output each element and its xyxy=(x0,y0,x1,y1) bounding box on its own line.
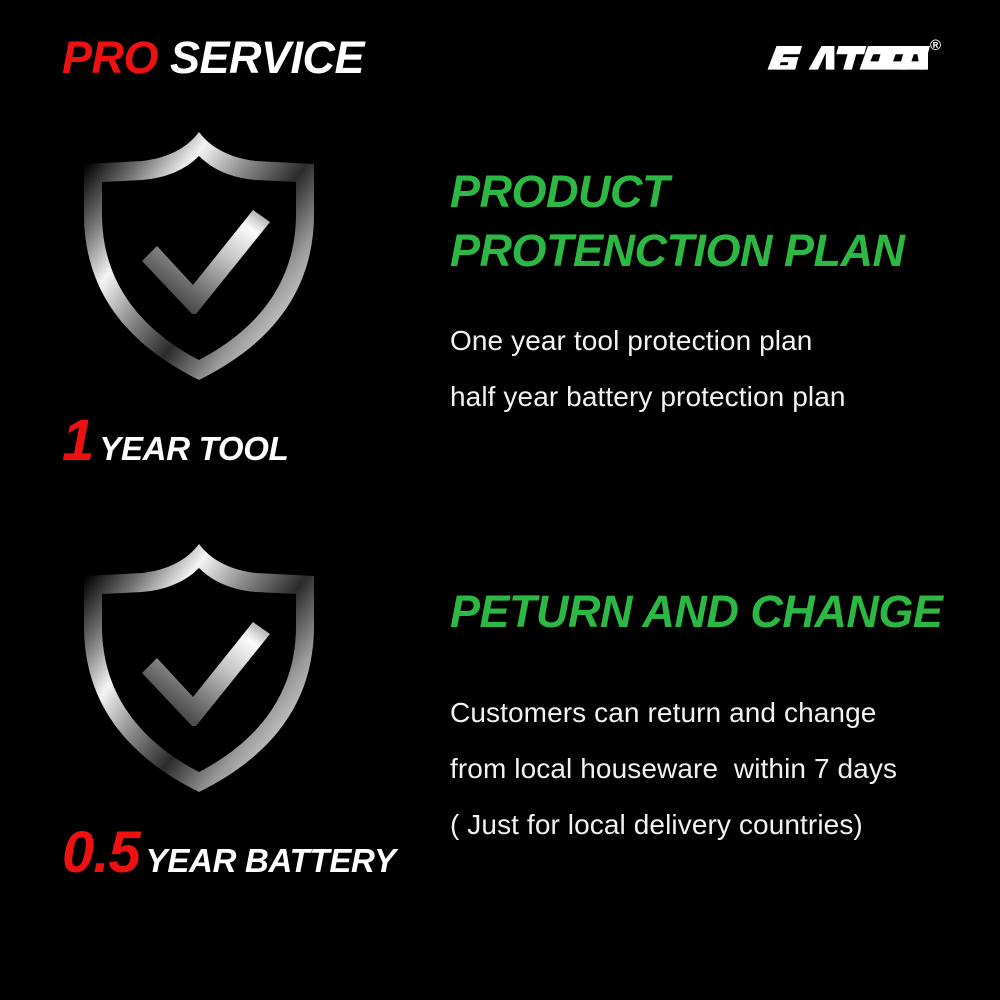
body-line: ( Just for local delivery countries) xyxy=(450,811,980,839)
shield-caption-battery: 0.5YEAR BATTERY xyxy=(52,824,382,882)
shield-check-icon-art xyxy=(64,530,334,802)
shield-caption-label: YEAR BATTERY xyxy=(146,842,396,879)
section-product-protection: 1YEAR TOOL PRODUCT PROTENCTION PLAN One … xyxy=(0,118,1000,508)
shield-block-tool: 1YEAR TOOL xyxy=(52,118,382,470)
pro-service-banner: PRO SERVICE xyxy=(0,0,1000,1000)
section-body-product: One year tool protection plan half year … xyxy=(450,327,980,411)
shield-block-battery: 0.5YEAR BATTERY xyxy=(52,530,382,882)
page-title-accent: PRO xyxy=(62,32,158,83)
shield-check-icon xyxy=(64,530,334,802)
heading-line: PETURN AND CHANGE xyxy=(450,582,980,641)
page-title: PRO SERVICE xyxy=(62,35,364,80)
section-heading-product: PRODUCT PROTENCTION PLAN xyxy=(450,118,980,281)
registered-trademark-icon: ® xyxy=(930,38,941,53)
heading-line: PROTENCTION PLAN xyxy=(450,221,980,280)
shield-caption-number: 0.5 xyxy=(62,820,140,885)
body-line: One year tool protection plan xyxy=(450,327,980,355)
shield-check-icon-art xyxy=(64,118,334,390)
body-line: Customers can return and change xyxy=(450,699,980,727)
page-title-main: SERVICE xyxy=(158,32,364,83)
shield-check-icon xyxy=(64,118,334,390)
batoca-logo: ® xyxy=(762,38,947,86)
section-heading-return: PETURN AND CHANGE xyxy=(450,530,980,641)
body-line: from local houseware within 7 days xyxy=(450,755,980,783)
banner-header: PRO SERVICE xyxy=(0,0,1000,110)
body-line: half year battery protection plan xyxy=(450,383,980,411)
section-body-return: Customers can return and change from loc… xyxy=(450,699,980,839)
text-block-return-change: PETURN AND CHANGE Customers can return a… xyxy=(450,530,980,839)
batoca-logo-mark xyxy=(762,38,930,78)
shield-caption-number: 1 xyxy=(62,408,93,473)
shield-caption-tool: 1YEAR TOOL xyxy=(52,412,382,470)
shield-caption-label: YEAR TOOL xyxy=(99,430,288,467)
section-return-change: 0.5YEAR BATTERY PETURN AND CHANGE Custom… xyxy=(0,530,1000,950)
text-block-product-protection: PRODUCT PROTENCTION PLAN One year tool p… xyxy=(450,118,980,411)
heading-line: PRODUCT xyxy=(450,162,980,221)
